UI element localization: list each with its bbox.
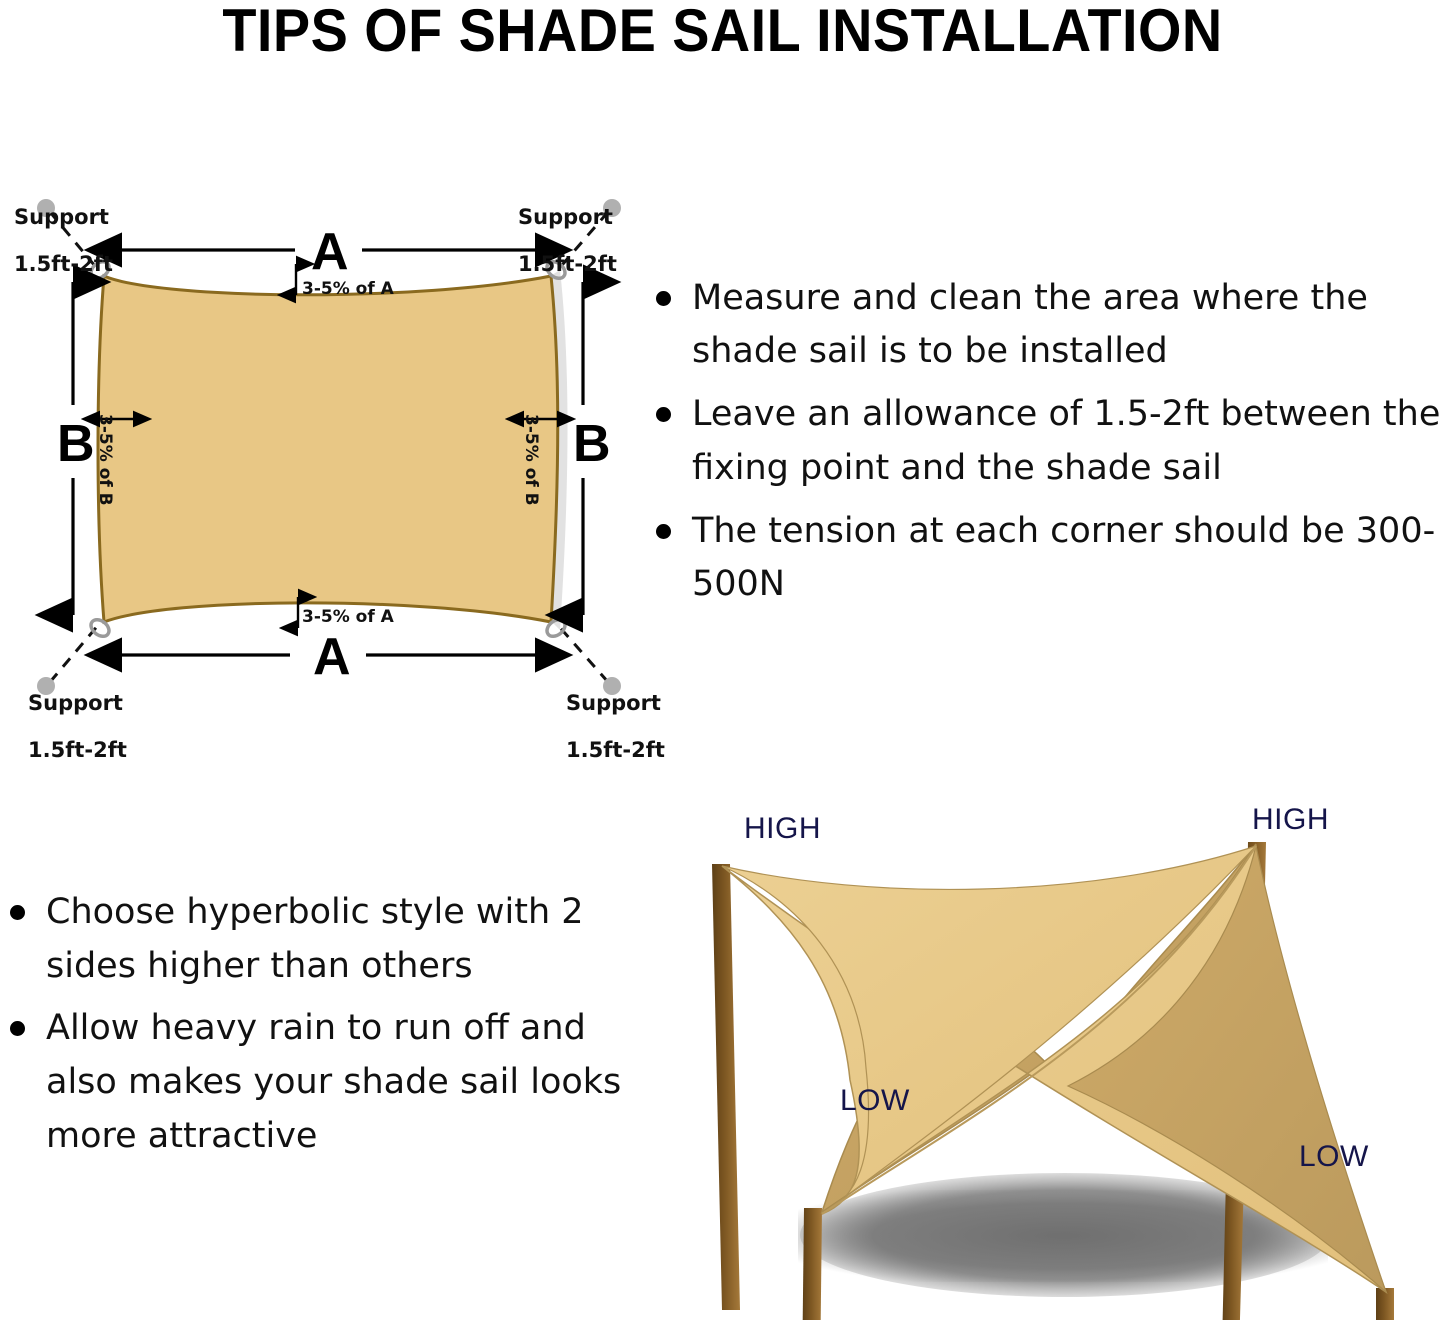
bullet-dot-icon bbox=[656, 291, 671, 306]
list-item: Leave an allowance of 1.5-2ft between th… bbox=[648, 388, 1445, 494]
curvature-label-left-b: 3-5% of B bbox=[95, 414, 115, 506]
curvature-label-top-a: 3-5% of A bbox=[302, 279, 394, 299]
list-item: Choose hyperbolic style with 2 sides hig… bbox=[2, 886, 632, 994]
bullet-dot-icon bbox=[10, 905, 25, 920]
curvature-label-right-b: 3-5% of B bbox=[521, 414, 541, 506]
dimension-letter-top-a: A bbox=[311, 226, 349, 278]
support-label-line2: 1.5ft-2ft bbox=[14, 252, 113, 276]
label-high-right: HIGH bbox=[1252, 803, 1329, 837]
support-label-bottom-right: Support 1.5ft-2ft bbox=[566, 668, 665, 762]
support-label-line1: Support bbox=[14, 205, 109, 229]
shade-sail-shape bbox=[98, 276, 558, 622]
page-title: TIPS OF SHADE SAIL INSTALLATION bbox=[51, 0, 1395, 65]
support-label-line2: 1.5ft-2ft bbox=[566, 738, 665, 762]
tip-text: Allow heavy rain to run off and also mak… bbox=[46, 1008, 621, 1156]
post-low-left bbox=[802, 1208, 822, 1320]
dimension-letter-bottom-a: A bbox=[313, 631, 351, 683]
dimension-letter-left-b: B bbox=[57, 418, 95, 470]
post-low-right bbox=[1376, 1288, 1394, 1320]
support-label-bottom-left: Support 1.5ft-2ft bbox=[28, 668, 127, 762]
support-label-line1: Support bbox=[28, 691, 123, 715]
dimension-letter-right-b: B bbox=[573, 418, 611, 470]
support-label-line2: 1.5ft-2ft bbox=[518, 252, 617, 276]
support-label-line1: Support bbox=[566, 691, 661, 715]
label-low-left: LOW bbox=[840, 1084, 910, 1118]
tip-text: Leave an allowance of 1.5-2ft between th… bbox=[692, 394, 1440, 487]
bullet-dot-icon bbox=[10, 1021, 25, 1036]
list-item: Measure and clean the area where the sha… bbox=[648, 272, 1445, 378]
support-label-line1: Support bbox=[518, 205, 613, 229]
support-label-line2: 1.5ft-2ft bbox=[28, 738, 127, 762]
list-item: The tension at each corner should be 300… bbox=[648, 505, 1445, 611]
post-high-left bbox=[712, 864, 740, 1310]
curvature-label-bottom-a: 3-5% of A bbox=[302, 607, 394, 627]
installation-tips-top-list: Measure and clean the area where the sha… bbox=[648, 272, 1445, 621]
label-low-right: LOW bbox=[1299, 1140, 1369, 1174]
bullet-dot-icon bbox=[656, 524, 671, 539]
tip-text: Choose hyperbolic style with 2 sides hig… bbox=[46, 892, 584, 986]
hyperbolic-sail-diagram bbox=[670, 780, 1445, 1320]
bullet-dot-icon bbox=[656, 407, 671, 422]
support-label-top-left: Support 1.5ft-2ft bbox=[14, 182, 113, 276]
list-item: Allow heavy rain to run off and also mak… bbox=[2, 1002, 632, 1164]
support-label-top-right: Support 1.5ft-2ft bbox=[518, 182, 617, 276]
label-high-left: HIGH bbox=[744, 812, 821, 846]
installation-tips-bottom-list: Choose hyperbolic style with 2 sides hig… bbox=[2, 886, 632, 1171]
tip-text: The tension at each corner should be 300… bbox=[692, 511, 1435, 604]
tip-text: Measure and clean the area where the sha… bbox=[692, 278, 1368, 371]
